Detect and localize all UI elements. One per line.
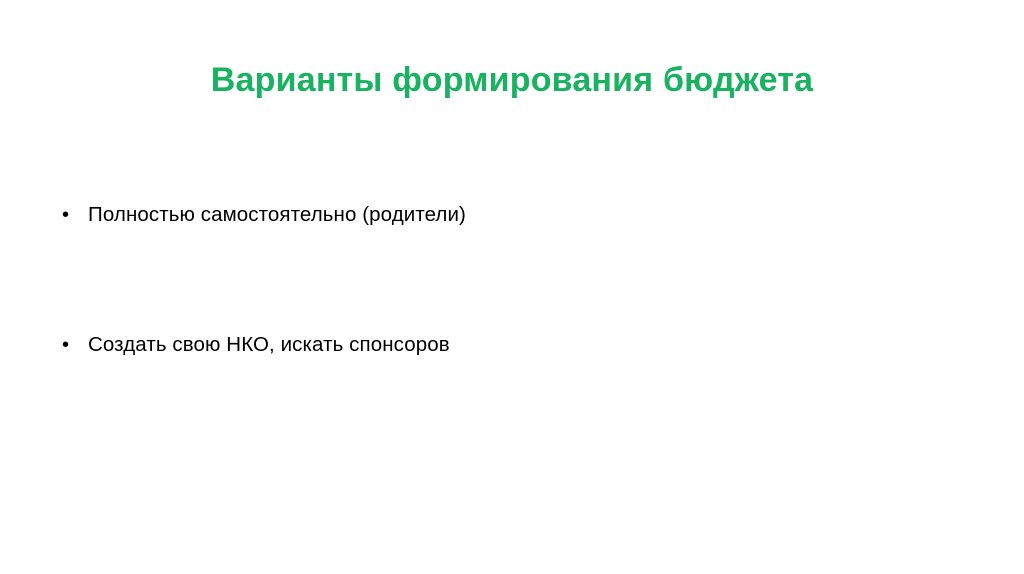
bullet-point-icon: •	[62, 330, 88, 360]
bullet-list: • Полностью самостоятельно (родители) • …	[62, 200, 962, 460]
bullet-point-icon: •	[62, 200, 88, 230]
list-item: • Полностью самостоятельно (родители)	[62, 200, 962, 230]
slide-canvas: Варианты формирования бюджета • Полность…	[0, 0, 1024, 574]
list-item-label: Полностью самостоятельно (родители)	[88, 200, 962, 230]
list-item-label: Создать свою НКО, искать спонсоров	[88, 330, 962, 360]
list-item: • Создать свою НКО, искать спонсоров	[62, 330, 962, 360]
page-title: Варианты формирования бюджета	[0, 62, 1024, 99]
